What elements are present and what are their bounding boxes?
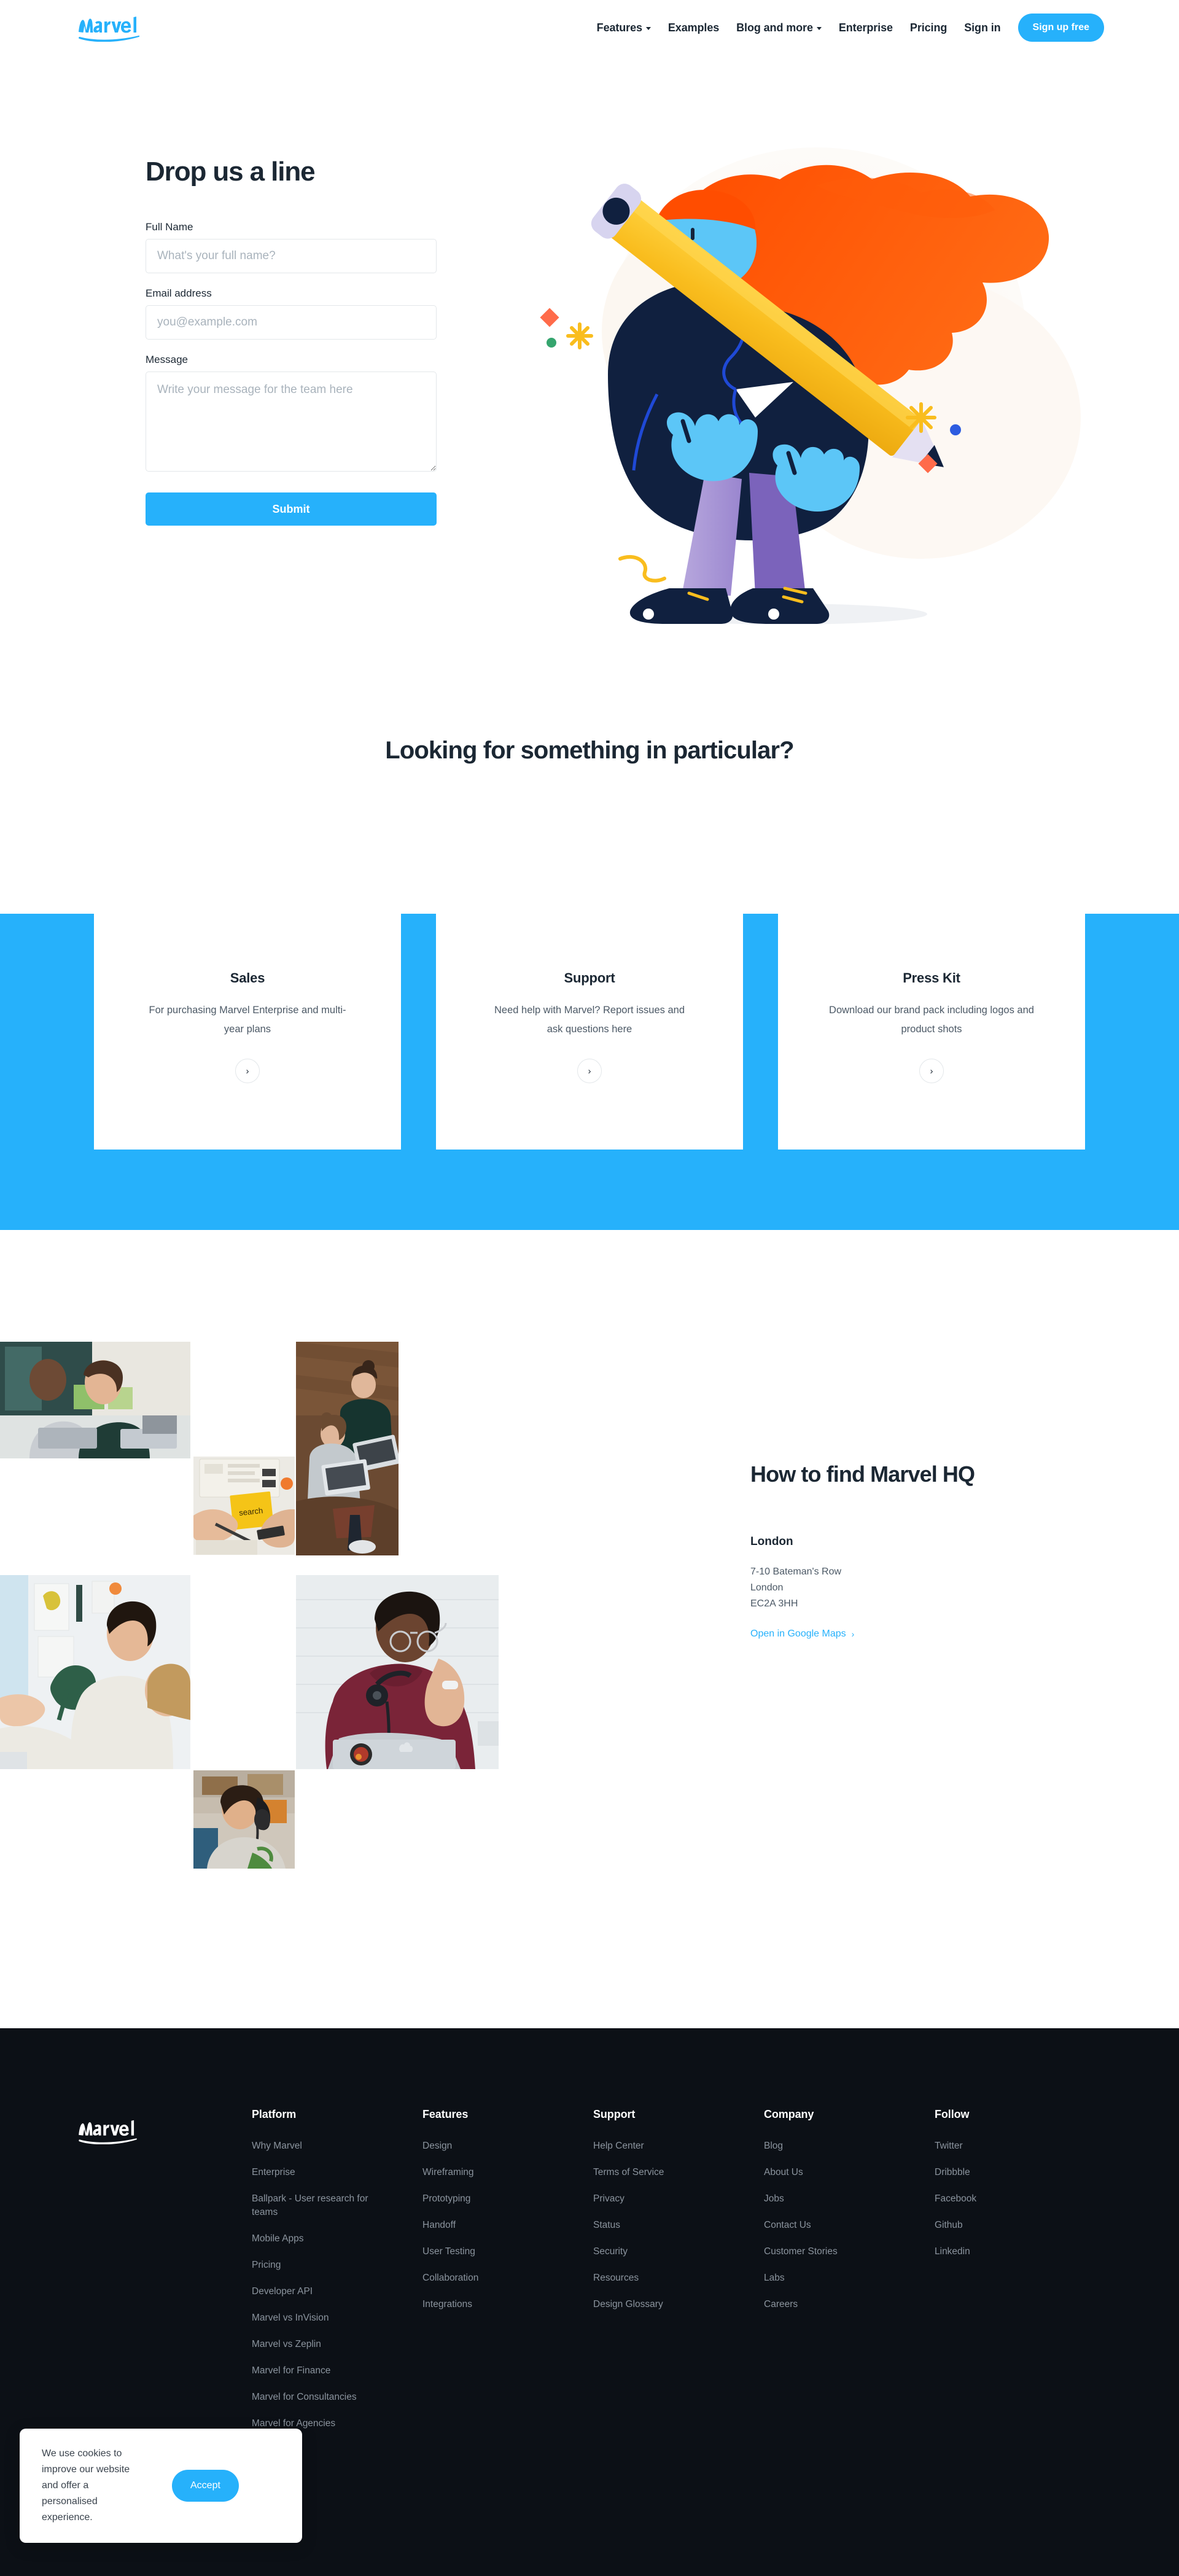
photo-hands-yellow-card: search bbox=[193, 1457, 295, 1555]
card-sales[interactable]: Sales For purchasing Marvel Enterprise a… bbox=[94, 904, 401, 1150]
nav-item-blog-and-more[interactable]: Blog and more bbox=[728, 21, 830, 34]
card-title: Press Kit bbox=[903, 970, 960, 986]
card-description: Download our brand pack including logos … bbox=[827, 1001, 1036, 1038]
footer-column-heading: Company bbox=[764, 2108, 935, 2121]
nav-label: Pricing bbox=[910, 21, 947, 34]
chevron-right-icon[interactable]: › bbox=[235, 1059, 260, 1083]
footer-column-heading: Platform bbox=[252, 2108, 422, 2121]
message-label: Message bbox=[146, 354, 437, 366]
footer-link-mobile-apps[interactable]: Mobile Apps bbox=[252, 2232, 393, 2246]
field-group-message: Message bbox=[146, 354, 437, 475]
card-title: Sales bbox=[230, 970, 265, 986]
footer-column-heading: Features bbox=[422, 2108, 593, 2121]
hq-address-line-3: EC2A 3HH bbox=[750, 1596, 1070, 1612]
footer-link-marvel-for-finance[interactable]: Marvel for Finance bbox=[252, 2364, 393, 2378]
collage-photo-4 bbox=[0, 1575, 190, 1769]
photo-whiteboard-collaboration bbox=[0, 1575, 190, 1769]
sign-up-free-button[interactable]: Sign up free bbox=[1018, 14, 1104, 42]
footer-link-columns: Platform Why Marvel Enterprise Ballpark … bbox=[252, 2108, 1105, 2443]
card-press-kit[interactable]: Press Kit Download our brand pack includ… bbox=[778, 904, 1085, 1150]
cookie-consent-banner: We use cookies to improve our website an… bbox=[20, 2429, 302, 2543]
chevron-down-icon bbox=[817, 27, 822, 30]
contact-cards: Sales For purchasing Marvel Enterprise a… bbox=[0, 904, 1179, 1150]
card-support[interactable]: Support Need help with Marvel? Report is… bbox=[436, 904, 743, 1150]
footer-link-marvel-vs-zeplin[interactable]: Marvel vs Zeplin bbox=[252, 2338, 393, 2351]
open-in-google-maps-link[interactable]: Open in Google Maps › bbox=[750, 1628, 854, 1640]
footer-link-design[interactable]: Design bbox=[422, 2139, 564, 2153]
nav-item-examples[interactable]: Examples bbox=[660, 21, 728, 34]
card-title: Support bbox=[564, 970, 615, 986]
hero-section: Drop us a line Full Name Email address M… bbox=[0, 111, 1179, 626]
footer-column-company: Company Blog About Us Jobs Contact Us Cu… bbox=[764, 2108, 935, 2443]
field-group-email: Email address bbox=[146, 287, 437, 340]
card-description: For purchasing Marvel Enterprise and mul… bbox=[143, 1001, 352, 1038]
marvel-logo-icon bbox=[75, 2117, 141, 2144]
footer-link-pricing[interactable]: Pricing bbox=[252, 2259, 393, 2272]
footer-link-enterprise[interactable]: Enterprise bbox=[252, 2166, 393, 2179]
footer-link-marvel-for-consultancies[interactable]: Marvel for Consultancies bbox=[252, 2391, 393, 2404]
footer-link-contact-us[interactable]: Contact Us bbox=[764, 2219, 905, 2232]
hq-address-line-2: London bbox=[750, 1580, 1070, 1596]
section-heading-particular: Looking for something in particular? bbox=[0, 737, 1179, 765]
hq-address: 7-10 Bateman's Row London EC2A 3HH bbox=[750, 1564, 1070, 1612]
full-name-label: Full Name bbox=[146, 221, 437, 233]
chevron-right-icon[interactable]: › bbox=[919, 1059, 944, 1083]
photo-two-colleagues-laptop bbox=[0, 1342, 190, 1458]
footer-column-follow: Follow Twitter Dribbble Facebook Github … bbox=[935, 2108, 1105, 2443]
footer-link-blog[interactable]: Blog bbox=[764, 2139, 905, 2153]
footer-link-marvel-vs-invision[interactable]: Marvel vs InVision bbox=[252, 2311, 393, 2325]
cookie-consent-text: We use cookies to improve our website an… bbox=[42, 2446, 134, 2526]
footer-link-prototyping[interactable]: Prototyping bbox=[422, 2192, 564, 2206]
footer-column-platform: Platform Why Marvel Enterprise Ballpark … bbox=[252, 2108, 422, 2443]
footer-link-user-testing[interactable]: User Testing bbox=[422, 2245, 564, 2259]
photo-man-headphones-laptop bbox=[296, 1575, 499, 1769]
nav-label: Enterprise bbox=[839, 21, 893, 34]
footer-link-privacy[interactable]: Privacy bbox=[593, 2192, 734, 2206]
nav-label: Features bbox=[597, 21, 642, 34]
hero-illustration bbox=[528, 129, 1081, 639]
footer-link-design-glossary[interactable]: Design Glossary bbox=[593, 2298, 734, 2311]
footer-column-heading: Follow bbox=[935, 2108, 1105, 2121]
message-textarea[interactable] bbox=[146, 372, 437, 472]
field-group-full-name: Full Name bbox=[146, 221, 437, 273]
footer-column-heading: Support bbox=[593, 2108, 764, 2121]
nav-item-enterprise[interactable]: Enterprise bbox=[830, 21, 901, 34]
marvel-hq-block: How to find Marvel HQ London 7-10 Batema… bbox=[750, 1461, 1070, 1640]
footer-link-github[interactable]: Github bbox=[935, 2219, 1076, 2232]
footer-link-dribbble[interactable]: Dribbble bbox=[935, 2166, 1076, 2179]
footer-marvel-logo[interactable] bbox=[75, 2117, 141, 2144]
footer-link-help-center[interactable]: Help Center bbox=[593, 2139, 734, 2153]
footer-link-integrations[interactable]: Integrations bbox=[422, 2298, 564, 2311]
footer-link-jobs[interactable]: Jobs bbox=[764, 2192, 905, 2206]
nav-item-pricing[interactable]: Pricing bbox=[901, 21, 955, 34]
footer-column-support: Support Help Center Terms of Service Pri… bbox=[593, 2108, 764, 2443]
photo-young-man-headphones bbox=[193, 1770, 295, 1869]
nav-label: Examples bbox=[668, 21, 719, 34]
footer-link-ballpark[interactable]: Ballpark - User research for teams bbox=[252, 2192, 393, 2219]
footer-link-facebook[interactable]: Facebook bbox=[935, 2192, 1076, 2206]
footer-link-labs[interactable]: Labs bbox=[764, 2271, 905, 2285]
nav-label: Blog and more bbox=[736, 21, 813, 34]
collage-photo-2: search bbox=[193, 1457, 295, 1555]
submit-button[interactable]: Submit bbox=[146, 492, 437, 526]
footer-link-linkedin[interactable]: Linkedin bbox=[935, 2245, 1076, 2259]
office-photo-collage: search bbox=[0, 1342, 540, 1882]
nav-label: Sign in bbox=[964, 21, 1000, 34]
email-input[interactable] bbox=[146, 305, 437, 340]
main-nav: Features Examples Blog and more Enterpri… bbox=[588, 14, 1104, 42]
email-label: Email address bbox=[146, 287, 437, 300]
nav-item-sign-in[interactable]: Sign in bbox=[955, 21, 1009, 34]
footer-link-handoff[interactable]: Handoff bbox=[422, 2219, 564, 2232]
hq-address-line-1: 7-10 Bateman's Row bbox=[750, 1564, 1070, 1580]
footer-link-security[interactable]: Security bbox=[593, 2245, 734, 2259]
collage-photo-5 bbox=[296, 1575, 499, 1769]
chevron-down-icon bbox=[646, 27, 651, 30]
collage-photo-3 bbox=[296, 1342, 399, 1555]
marvel-logo-icon bbox=[75, 14, 144, 42]
page-title: Drop us a line bbox=[146, 157, 315, 187]
chevron-right-icon[interactable]: › bbox=[577, 1059, 602, 1083]
hq-title: How to find Marvel HQ bbox=[750, 1461, 1070, 1487]
card-description: Need help with Marvel? Report issues and… bbox=[485, 1001, 694, 1038]
full-name-input[interactable] bbox=[146, 239, 437, 273]
footer-link-status[interactable]: Status bbox=[593, 2219, 734, 2232]
chevron-right-icon: › bbox=[852, 1629, 855, 1639]
footer-link-about-us[interactable]: About Us bbox=[764, 2166, 905, 2179]
contact-form: Full Name Email address Message Submit bbox=[146, 221, 437, 526]
cookie-accept-button[interactable]: Accept bbox=[172, 2470, 239, 2502]
footer-link-terms-of-service[interactable]: Terms of Service bbox=[593, 2166, 734, 2179]
footer-column-features: Features Design Wireframing Prototyping … bbox=[422, 2108, 593, 2443]
footer-link-customer-stories[interactable]: Customer Stories bbox=[764, 2245, 905, 2259]
footer-link-why-marvel[interactable]: Why Marvel bbox=[252, 2139, 393, 2153]
collage-photo-6 bbox=[193, 1770, 295, 1869]
open-in-google-maps-label: Open in Google Maps bbox=[750, 1628, 846, 1640]
marvel-logo[interactable] bbox=[75, 14, 144, 42]
footer-link-careers[interactable]: Careers bbox=[764, 2298, 905, 2311]
footer-link-twitter[interactable]: Twitter bbox=[935, 2139, 1076, 2153]
hq-city: London bbox=[750, 1535, 1070, 1549]
collage-photo-1 bbox=[0, 1342, 190, 1458]
site-header: Features Examples Blog and more Enterpri… bbox=[0, 0, 1179, 61]
pencil-character-illustration bbox=[528, 129, 1081, 639]
photo-two-people-laptops bbox=[296, 1342, 399, 1555]
footer-link-collaboration[interactable]: Collaboration bbox=[422, 2271, 564, 2285]
nav-item-features[interactable]: Features bbox=[588, 21, 660, 34]
footer-link-developer-api[interactable]: Developer API bbox=[252, 2285, 393, 2298]
footer-link-resources[interactable]: Resources bbox=[593, 2271, 734, 2285]
footer-link-wireframing[interactable]: Wireframing bbox=[422, 2166, 564, 2179]
